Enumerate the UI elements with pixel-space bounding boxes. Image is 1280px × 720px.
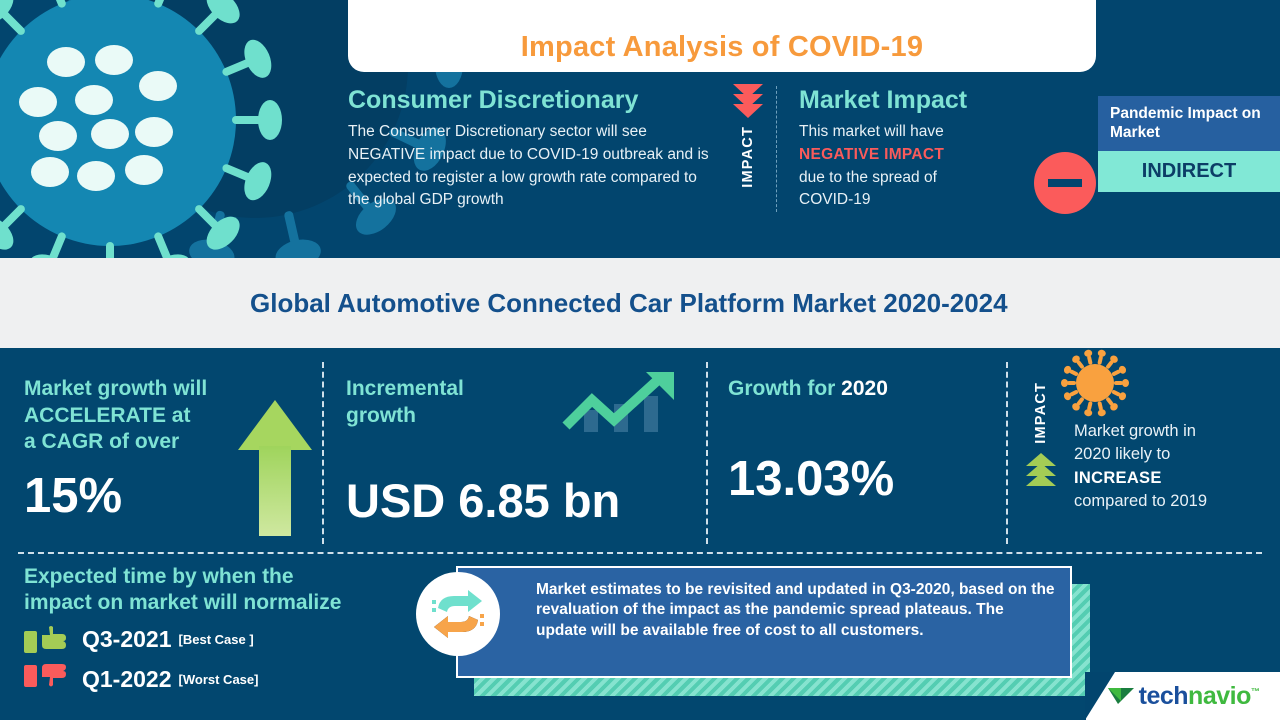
chevron-down-triple-icon (733, 88, 763, 118)
stat-growth-2020: Growth for 2020 13.03% (728, 348, 1014, 552)
impact-indicator-negative: IMPACT (720, 86, 776, 212)
infographic-canvas: Impact Analysis of COVID-19 Consumer Dis… (0, 0, 1280, 720)
stat-impact-2020: IMPACT Market growth in 2020 likely to I… (1020, 348, 1280, 552)
worst-case-tag: [Worst Case] (179, 672, 259, 687)
impact-2020-line3: compared to 2019 (1074, 492, 1207, 510)
market-impact-emphasis: NEGATIVE IMPACT (799, 146, 944, 163)
best-case-quarter: Q3-2021 (82, 626, 172, 653)
virus-icon (1064, 352, 1126, 414)
growth-label-prefix: Growth for (728, 377, 841, 400)
impact-2020-vertical-label: IMPACT (1033, 382, 1049, 444)
cagr-label-line3: a CAGR of over (24, 430, 179, 453)
impact-2020-line2: 2020 likely to (1074, 445, 1170, 463)
stat-incremental-growth: Incremental growth USD 6.85 bn (346, 348, 686, 552)
trend-up-icon (562, 370, 680, 436)
header-band: Impact Analysis of COVID-19 Consumer Dis… (0, 0, 1280, 258)
pandemic-impact-label: Pandemic Impact on Market (1098, 96, 1280, 151)
market-impact-heading: Market Impact (799, 86, 1076, 115)
paper-plane-icon (1107, 685, 1135, 707)
bottom-row: Expected time by when the impact on mark… (0, 554, 1280, 720)
virus-illustration-front (0, 0, 290, 258)
logo-part2: navio (1188, 682, 1251, 710)
technavio-logo[interactable]: technavio™ (1086, 672, 1280, 720)
page-title: Impact Analysis of COVID-19 (521, 31, 923, 64)
impact-2020-line1: Market growth in (1074, 422, 1196, 440)
best-case-tag: [Best Case ] (179, 632, 254, 647)
consumer-discretionary-heading: Consumer Discretionary (348, 86, 720, 115)
worst-case-quarter: Q1-2022 (82, 666, 172, 693)
logo-part1: tech (1139, 682, 1188, 710)
pandemic-impact-panel: Pandemic Impact on Market INDIRECT (1098, 96, 1280, 192)
normalize-label-line1: Expected time by when the (24, 565, 294, 588)
header-columns: Consumer Discretionary The Consumer Disc… (348, 86, 1108, 212)
divider-vertical-2 (706, 362, 708, 544)
impact-2020-emphasis: INCREASE (1074, 469, 1162, 487)
refresh-cycle-icon (416, 572, 500, 656)
cagr-label-line2: ACCELERATE at (24, 404, 190, 427)
growth-value: 13.03% (728, 451, 1014, 507)
stats-row: Market growth will ACCELERATE at a CAGR … (0, 348, 1280, 552)
case-row-best: Q3-2021 [Best Case ] (24, 623, 424, 657)
consumer-discretionary-block: Consumer Discretionary The Consumer Disc… (348, 86, 720, 212)
minus-circle-icon (1034, 152, 1096, 214)
normalize-label-line2: impact on market will normalize (24, 591, 341, 614)
case-row-worst: Q1-2022 [Worst Case] (24, 663, 424, 697)
arrow-up-icon (238, 400, 312, 536)
impact-vertical-label: IMPACT (740, 126, 756, 188)
market-impact-line1: This market will have (799, 123, 944, 140)
thumbs-down-icon (24, 663, 70, 697)
incremental-value: USD 6.85 bn (346, 473, 686, 528)
market-impact-line2: due to the spread of (799, 169, 937, 186)
market-impact-line3: COVID-19 (799, 191, 871, 208)
note-callout: Market estimates to be revisited and upd… (456, 566, 1080, 690)
pandemic-impact-value: INDIRECT (1098, 151, 1280, 192)
cagr-label-line1: Market growth will (24, 377, 207, 400)
stat-cagr: Market growth will ACCELERATE at a CAGR … (24, 348, 324, 552)
report-title: Global Automotive Connected Car Platform… (250, 288, 1008, 319)
logo-trademark: ™ (1251, 686, 1260, 696)
market-impact-block: Market Impact This market will have NEGA… (776, 86, 1076, 212)
chevron-up-double-icon (1026, 456, 1056, 486)
title-banner: Impact Analysis of COVID-19 (348, 0, 1096, 72)
incremental-label-line2: growth (346, 404, 416, 427)
report-title-band: Global Automotive Connected Car Platform… (0, 258, 1280, 348)
normalize-block: Expected time by when the impact on mark… (24, 564, 424, 697)
note-text: Market estimates to be revisited and upd… (536, 581, 1055, 639)
consumer-discretionary-body: The Consumer Discretionary sector will s… (348, 121, 720, 212)
growth-label-year: 2020 (841, 377, 888, 400)
incremental-label-line1: Incremental (346, 377, 464, 400)
thumbs-up-icon (24, 623, 70, 657)
